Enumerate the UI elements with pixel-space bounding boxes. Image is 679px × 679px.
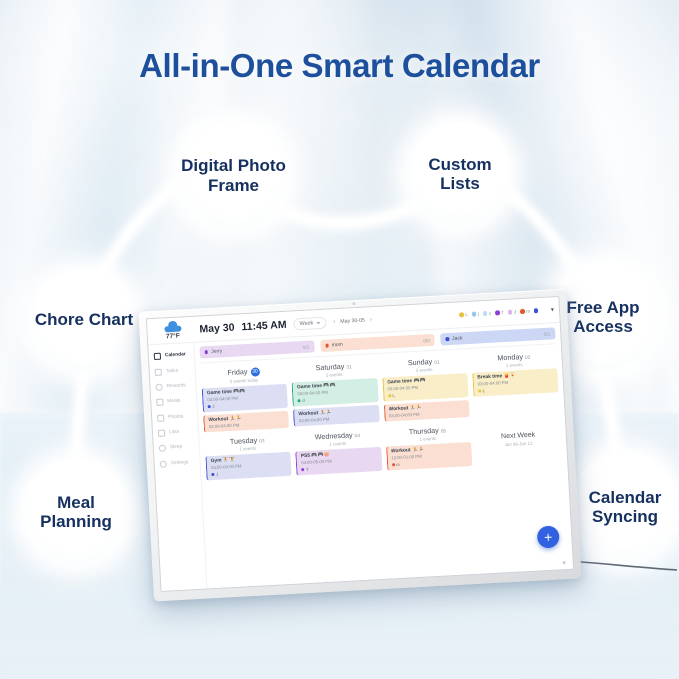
member-color-dot xyxy=(520,309,525,314)
chevron-left-icon[interactable]: ‹ xyxy=(333,318,336,325)
current-time: 11:45 AM xyxy=(241,318,287,332)
view-select[interactable]: Week xyxy=(293,316,326,330)
calendar-app-screen: 77°F May 30 11:45 AM Week ‹ May 30-05 › … xyxy=(147,297,573,591)
feature-bubble-calendar-syncing: Calendar Syncing xyxy=(570,452,679,562)
member-task-count: 0/1 xyxy=(544,331,551,336)
event-card[interactable]: Game time 🎮🎮03:00-04:00 PMd xyxy=(292,377,378,406)
date-range-nav[interactable]: ‹ May 30-05 › xyxy=(333,316,372,325)
day-column[interactable]: Friday302 events todayGame time 🎮🎮03:00-… xyxy=(201,362,290,436)
temperature-label: 77°F xyxy=(153,332,193,341)
plus-icon: + xyxy=(544,530,553,544)
member-initial: L xyxy=(465,312,468,317)
photos-icon xyxy=(157,414,164,421)
sleep-icon xyxy=(159,445,166,452)
member-color-dot xyxy=(459,312,464,317)
event-card[interactable]: Workout 🏃🏃03:00-04:00 PM xyxy=(293,405,379,427)
camera-icon xyxy=(352,302,355,305)
member-initial: T xyxy=(501,310,504,315)
bubble-label: Custom Lists xyxy=(408,155,512,193)
weather-widget[interactable]: 77°F xyxy=(152,320,193,341)
app-body: CalendarTasksRewardsMealsPhotosListsSlee… xyxy=(148,323,573,591)
day-column[interactable]: Sunday012 eventsGame time 🎮🎮03:00-04:00 … xyxy=(381,352,470,426)
lists-icon xyxy=(158,430,165,437)
next-week-panel[interactable]: Next WeekJun 06-Jun 12 xyxy=(475,417,563,469)
feature-bubble-meal-planning: Meal Planning xyxy=(22,458,130,566)
sidebar-item-label: Photos xyxy=(168,414,183,420)
event-card[interactable]: PS5 🎮🎮🍿04:00-05:00 PMT xyxy=(295,447,381,476)
day-name: Sunday xyxy=(408,356,433,366)
day-number: 01 xyxy=(434,360,440,365)
day-column[interactable]: Thursday051 eventsWorkout 🏃🏃12:00-01:00 … xyxy=(385,421,473,473)
calendar-content: Jerry0/1mom0/0Jack0/1 Friday302 events t… xyxy=(194,323,573,588)
member-initial: m xyxy=(526,309,530,314)
assignee-color-dot xyxy=(392,463,395,466)
day-column[interactable]: Tuesday031 eventsGym 🏋️🏋️03:00-04:00 PMJ xyxy=(204,431,292,483)
day-number: 02 xyxy=(525,355,531,360)
event-card[interactable]: Game time 🎮🎮03:00-04:00 PML xyxy=(382,373,468,402)
day-name: Monday xyxy=(497,352,523,362)
member-initial: J xyxy=(514,309,517,314)
member-initial: c xyxy=(489,311,492,316)
day-number: 31 xyxy=(346,365,352,370)
page-title: All-in-One Smart Calendar xyxy=(0,47,679,85)
member-color-dot xyxy=(472,312,477,317)
calendar-icon xyxy=(154,353,161,360)
feature-bubble-chore-chart: Chore Chart xyxy=(32,268,136,372)
member-task-count: 0/1 xyxy=(303,344,310,349)
assignee-color-dot xyxy=(208,405,211,408)
cloud-icon xyxy=(164,322,182,333)
day-name: Thursday xyxy=(409,426,439,437)
member-chip[interactable] xyxy=(534,308,540,313)
bubble-label: Digital Photo Frame xyxy=(180,156,287,194)
member-chip[interactable]: c xyxy=(483,311,492,316)
feature-bubble-digital-photo-frame: Digital Photo Frame xyxy=(180,122,287,229)
assignee-color-dot xyxy=(211,473,214,476)
member-color-dot xyxy=(508,310,513,315)
day-name: Friday xyxy=(227,366,247,376)
event-card[interactable]: Gym 🏋️🏋️03:00-04:00 PMJ xyxy=(205,452,291,481)
current-date: May 30 xyxy=(199,321,235,335)
chevron-down-icon xyxy=(316,321,320,323)
assignee-color-dot xyxy=(388,394,391,397)
meals-icon xyxy=(156,399,163,406)
wifi-icon: ▾ xyxy=(551,306,554,313)
bubble-label: Meal Planning xyxy=(22,493,130,531)
day-number: 04 xyxy=(355,434,361,439)
member-color-dot xyxy=(495,311,500,316)
assignee-color-dot xyxy=(301,468,304,471)
tasks-icon xyxy=(155,368,162,375)
device-screen-area: 77°F May 30 11:45 AM Week ‹ May 30-05 › … xyxy=(146,296,574,592)
event-card[interactable]: Game time 🎮🎮03:00-04:00 PMJ xyxy=(202,384,288,413)
event-card[interactable]: Workout 🏃🏃12:00-01:00 PMm xyxy=(386,442,472,471)
date-range-label: May 30-05 xyxy=(340,317,365,324)
bubble-label: Chore Chart xyxy=(35,310,133,329)
member-chip[interactable]: T xyxy=(495,310,504,315)
day-column[interactable]: Wednesday041 eventsPS5 🎮🎮🍿04:00-05:00 PM… xyxy=(294,426,382,478)
bubble-label: Calendar Syncing xyxy=(570,488,679,526)
day-column[interactable]: Monday021 eventsBreak time 🍟🍹03:00-04:00… xyxy=(471,347,560,421)
member-initial: j xyxy=(478,311,479,316)
member-color-dot xyxy=(534,308,539,313)
day-number: 05 xyxy=(441,429,447,434)
today-badge: 30 xyxy=(250,367,259,376)
event-card[interactable]: Break time 🍟🍹03:00-04:00 PML xyxy=(472,368,558,397)
member-summary-card[interactable]: mom0/0 xyxy=(320,334,435,352)
sidebar-item-label: Lists xyxy=(169,430,179,436)
sidebar-item-label: Sleep xyxy=(170,445,183,451)
view-select-label: Week xyxy=(299,320,313,327)
day-number: 03 xyxy=(259,439,265,444)
sidebar-item-settings[interactable]: Settings xyxy=(154,454,200,472)
feature-bubble-custom-lists: Custom Lists xyxy=(408,122,512,226)
sidebar-item-label: Calendar xyxy=(165,352,186,358)
assignee-color-dot xyxy=(478,389,481,392)
device-bezel: 77°F May 30 11:45 AM Week ‹ May 30-05 › … xyxy=(138,289,581,602)
member-color-dot xyxy=(325,344,329,348)
member-filter-chips[interactable]: LjcTJm xyxy=(459,308,543,318)
member-summary-card[interactable]: Jack0/1 xyxy=(440,327,555,345)
sidebar-item-label: Rewards xyxy=(166,383,186,389)
member-color-dot xyxy=(205,350,209,354)
week-grid: Friday302 events todayGame time 🎮🎮03:00-… xyxy=(200,343,562,483)
member-chip[interactable]: m xyxy=(520,309,530,315)
day-name: Saturday xyxy=(315,361,344,372)
next-week-block: Next WeekJun 06-Jun 12 xyxy=(475,417,562,450)
day-column[interactable]: Saturday312 eventsGame time 🎮🎮03:00-04:0… xyxy=(291,357,380,431)
sidebar-item-label: Settings xyxy=(171,460,189,466)
chevron-right-icon[interactable]: › xyxy=(370,316,373,323)
member-summary-card[interactable]: Jerry0/1 xyxy=(199,340,314,358)
sidebar-item-label: Tasks xyxy=(166,368,179,374)
member-name: mom xyxy=(331,342,342,349)
member-task-count: 0/0 xyxy=(423,338,430,343)
member-name: Jack xyxy=(452,335,463,342)
day-name: Tuesday xyxy=(230,435,258,445)
member-chip[interactable]: L xyxy=(459,312,468,317)
sidebar-item-label: Meals xyxy=(167,399,180,405)
member-color-dot xyxy=(446,337,450,341)
member-chip[interactable]: J xyxy=(508,309,517,314)
smart-calendar-device: 77°F May 30 11:45 AM Week ‹ May 30-05 › … xyxy=(138,289,581,602)
settings-icon xyxy=(160,460,167,467)
event-card[interactable]: Workout 🏃🏃03:00-04:00 PM xyxy=(383,400,469,422)
member-chip[interactable]: j xyxy=(472,311,479,316)
assignee-color-dot xyxy=(298,399,301,402)
member-color-dot xyxy=(483,311,488,316)
member-name: Jerry xyxy=(211,348,222,355)
rewards-icon xyxy=(155,384,162,391)
event-card[interactable]: Workout 🏃🏃03:00-04:00 PM xyxy=(203,411,289,433)
